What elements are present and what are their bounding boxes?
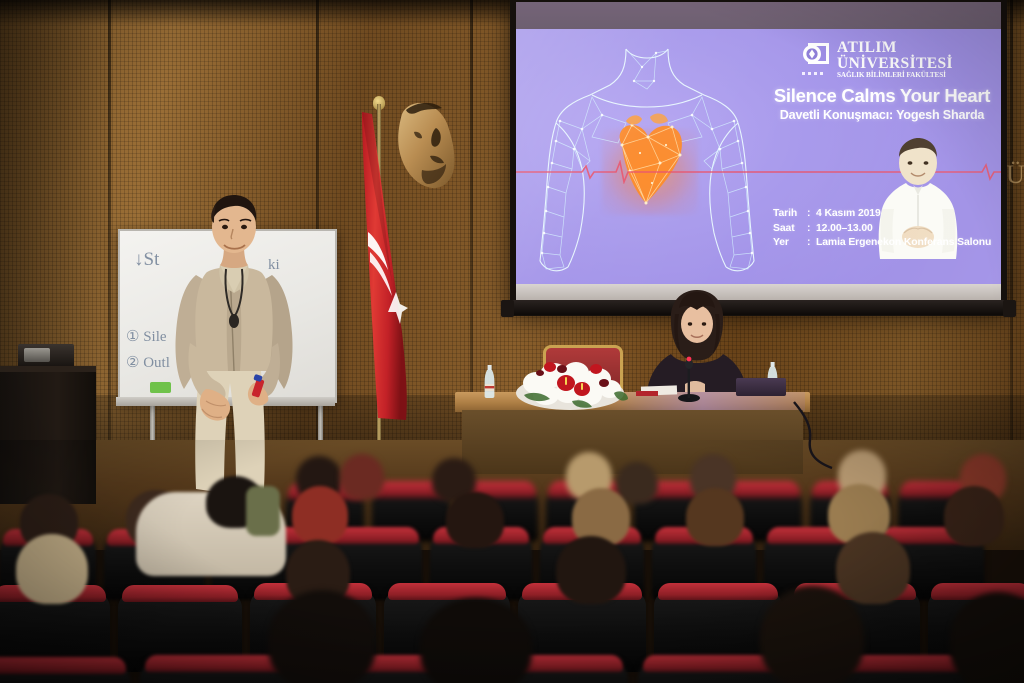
detail-sep: :	[807, 207, 816, 222]
detail-row-date: Tarih : 4 Kasım 2019	[773, 207, 991, 222]
shoulder-bag	[246, 486, 280, 536]
turkish-flag	[358, 112, 410, 422]
logo-line-3: SAĞLIK BİLİMLERİ FAKÜLTESİ	[837, 72, 953, 79]
projector-lens	[24, 348, 50, 362]
slide-title: Silence Calms Your Heart	[768, 85, 996, 107]
screen-roller-cap	[1003, 300, 1016, 317]
logo-dots	[802, 72, 823, 75]
water-bottle	[484, 365, 495, 398]
event-details: Tarih : 4 Kasım 2019 Saat : 12.00–13.00 …	[773, 207, 991, 251]
whiteboard-line: ① Sile	[126, 327, 167, 346]
detail-key: Saat	[773, 222, 807, 237]
detail-key: Yer	[773, 236, 807, 251]
detail-row-time: Saat : 12.00–13.00	[773, 222, 991, 237]
screen-top-band	[516, 2, 1001, 29]
seat	[0, 664, 130, 683]
audience-head	[16, 534, 88, 604]
logo-line-1: ATILIM	[837, 40, 953, 56]
conference-hall-photo: Ü	[0, 0, 1024, 683]
university-logo: ATILIM ÜNİVERSİTESİ SAĞLIK BİLİMLERİ FAK…	[801, 40, 953, 79]
detail-value: 4 Kasım 2019	[816, 207, 881, 222]
audience-head	[944, 486, 1004, 546]
whiteboard-line: ② Outl	[126, 353, 170, 372]
projection-screen: ATILIM ÜNİVERSİTESİ SAĞLIK BİLİMLERİ FAK…	[510, 0, 1007, 330]
audience-head	[556, 536, 626, 604]
audience-head	[686, 488, 744, 546]
heart-polygon-group	[620, 114, 682, 205]
wall-sign-letter: Ü	[1006, 160, 1024, 190]
audience-head	[420, 598, 532, 683]
screen-bottom-strip	[516, 284, 1001, 300]
desk-device	[736, 378, 786, 396]
red-pen	[636, 391, 658, 396]
audience-area	[0, 440, 1024, 683]
slide-subtitle: Davetli Konuşmacı: Yogesh Sharda	[768, 108, 996, 122]
table-microphone	[676, 356, 702, 402]
whiteboard-line: ↓St	[134, 249, 159, 271]
screen-roller-cap	[501, 300, 514, 317]
audience-head	[268, 590, 376, 683]
audience-head	[760, 586, 864, 683]
detail-value: 12.00–13.00	[816, 222, 873, 237]
presentation-slide: ATILIM ÜNİVERSİTESİ SAĞLIK BİLİMLERİ FAK…	[516, 29, 1001, 284]
detail-sep: :	[807, 222, 816, 237]
audience-head	[340, 454, 384, 500]
audience-head	[292, 486, 348, 544]
screen-roller	[510, 300, 1007, 315]
audience-head	[446, 492, 504, 548]
atilim-emblem-icon	[801, 41, 831, 71]
logo-line-2: ÜNİVERSİTESİ	[837, 56, 953, 72]
flower-bouquet	[510, 349, 630, 411]
seat	[140, 662, 294, 683]
audience-head	[836, 532, 910, 604]
logo-text-block: ATILIM ÜNİVERSİTESİ SAĞLIK BİLİMLERİ FAK…	[837, 40, 953, 79]
detail-key: Tarih	[773, 207, 807, 222]
detail-sep: :	[807, 236, 816, 251]
detail-row-venue: Yer : Lamia Ergenekon Konferans Salonu	[773, 236, 991, 251]
detail-value: Lamia Ergenekon Konferans Salonu	[816, 236, 991, 251]
